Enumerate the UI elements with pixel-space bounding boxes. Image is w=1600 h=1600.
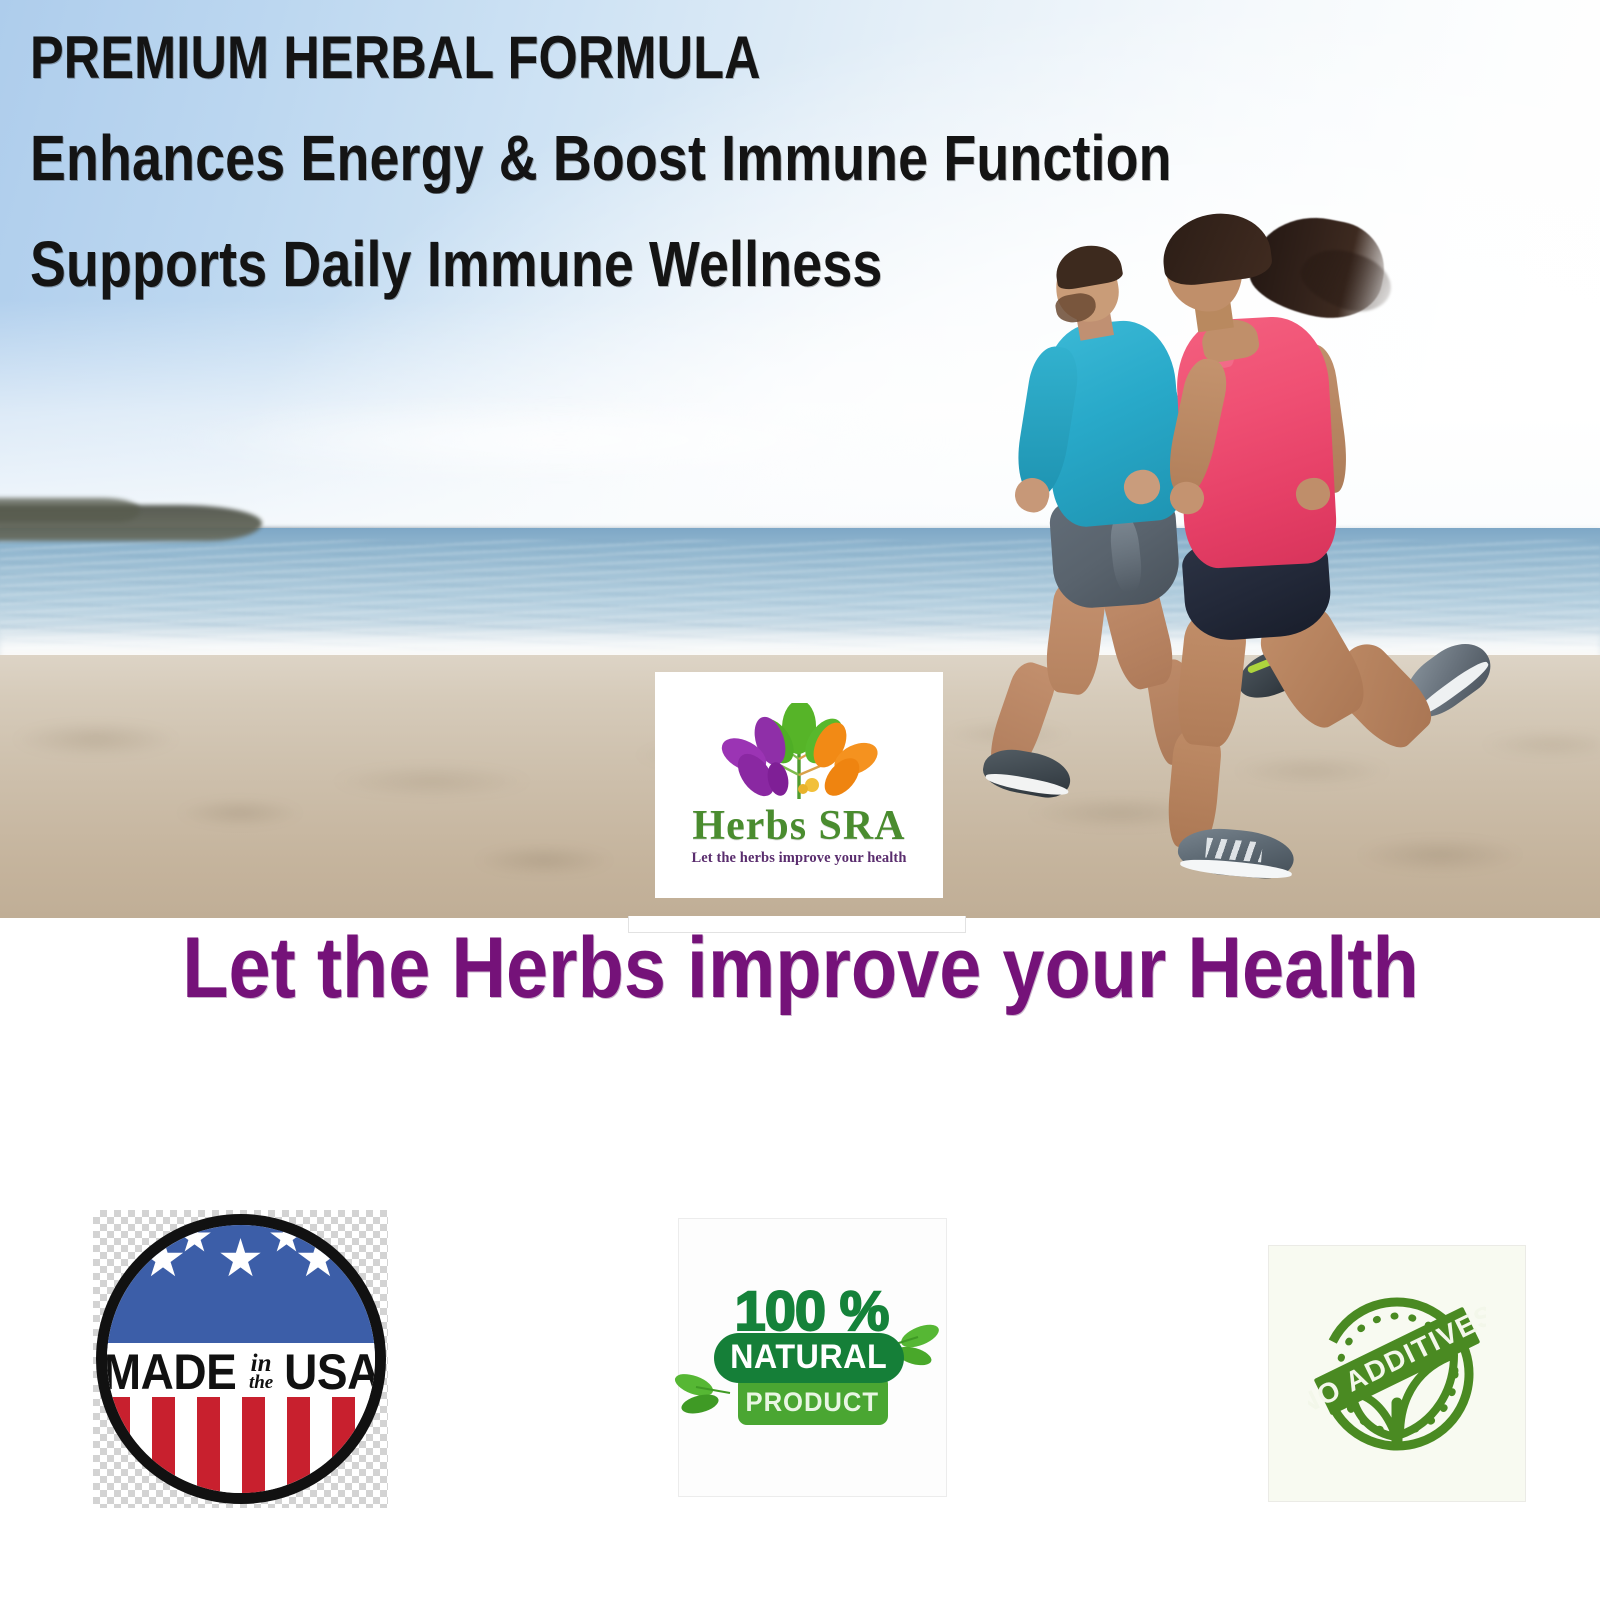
- usa-red-stripes: [107, 1397, 375, 1493]
- headland-rock-secondary: [0, 498, 140, 522]
- badge-no-additives: NO ADDITIVES NO ADDITIVES: [1268, 1245, 1526, 1502]
- brand-logo-card: Herbs SRA Let the herbs improve your hea…: [655, 672, 943, 898]
- headline-primary: PREMIUM HERBAL FORMULA: [30, 28, 1004, 88]
- trust-badges-row: MADE in the USA: [0, 1185, 1600, 1525]
- star-icon: [297, 1238, 339, 1280]
- herb-leaves-icon: [708, 703, 890, 807]
- star-icon: [142, 1238, 184, 1280]
- natural-product-text: PRODUCT: [746, 1387, 879, 1418]
- usa-word-usa: USA: [284, 1343, 380, 1401]
- main-tagline: Let the Herbs improve your Health: [0, 922, 1600, 1014]
- usa-word-made: MADE: [103, 1343, 237, 1401]
- usa-word-the: the: [249, 1375, 273, 1391]
- made-in-usa-text: MADE in the USA: [107, 1343, 375, 1402]
- natural-badge-graphic: 100 % PRODUCT NATURAL: [708, 1283, 918, 1433]
- no-additives-label: NO ADDITIVES: [1269, 1246, 1270, 1247]
- product-marketing-banner: PREMIUM HERBAL FORMULA Enhances Energy &…: [0, 0, 1600, 1600]
- headline-tertiary: Supports Daily Immune Wellness: [30, 232, 1004, 296]
- star-icon: [220, 1238, 262, 1280]
- headline-block: PREMIUM HERBAL FORMULA Enhances Energy &…: [30, 28, 1190, 296]
- badge-made-in-usa: MADE in the USA: [93, 1210, 388, 1508]
- natural-word-text: NATURAL: [730, 1338, 887, 1377]
- natural-word-band: NATURAL: [714, 1333, 904, 1383]
- leaf-icon: [670, 1371, 732, 1419]
- usa-blue-field: [107, 1225, 375, 1351]
- usa-word-in-the: in the: [249, 1354, 273, 1390]
- main-tagline-text: Let the Herbs improve your Health: [182, 925, 1418, 1011]
- natural-percent-text: 100 %: [716, 1283, 908, 1339]
- badge-100-natural-product: 100 % PRODUCT NATURAL: [678, 1218, 947, 1497]
- brand-wordmark: Herbs SRA: [692, 805, 905, 847]
- usa-stars-main-row: [107, 1240, 375, 1278]
- headline-secondary: Enhances Energy & Boost Immune Function: [30, 126, 1004, 190]
- made-in-usa-seal: MADE in the USA: [96, 1214, 386, 1504]
- no-additives-stamp-icon: NO ADDITIVES: [1308, 1285, 1486, 1463]
- brand-logo-tagline: Let the herbs improve your health: [691, 850, 906, 867]
